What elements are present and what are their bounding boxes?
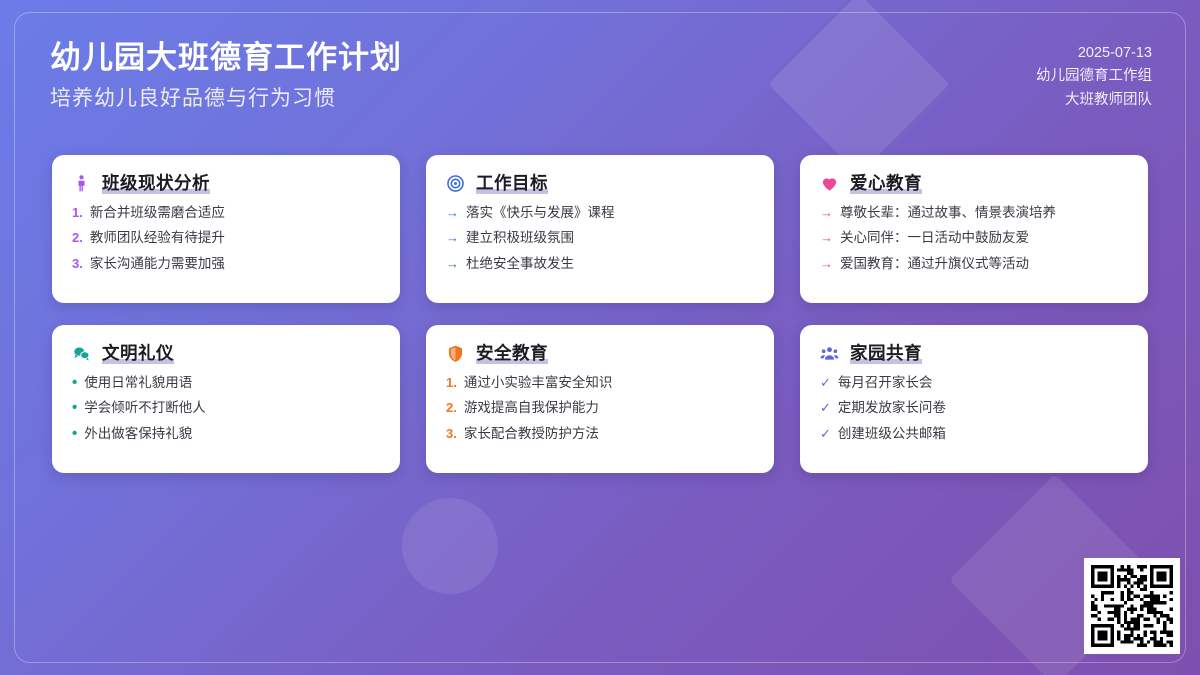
target-icon <box>446 174 465 193</box>
list-item-text: 教师团队经验有待提升 <box>90 230 225 246</box>
card-love-education[interactable]: 爱心教育→尊敬长辈：通过故事、情景表演培养→关心同伴：一日活动中鼓励友爱→爱国教… <box>800 155 1148 303</box>
card-title: 爱心教育 <box>850 173 922 194</box>
list-item: →杜绝安全事故发生 <box>446 256 754 272</box>
list-item: →爱国教育：通过升旗仪式等活动 <box>820 256 1128 272</box>
card-work-goals[interactable]: 工作目标→落实《快乐与发展》课程→建立积极班级氛围→杜绝安全事故发生 <box>426 155 774 303</box>
list-item-text: 游戏提高自我保护能力 <box>464 400 599 416</box>
people-group-icon <box>820 344 839 363</box>
list-marker-arrow: → <box>446 230 459 246</box>
card-header: 家园共育 <box>820 343 1128 364</box>
list-item: →关心同伴：一日活动中鼓励友爱 <box>820 230 1128 246</box>
card-header: 文明礼仪 <box>72 343 380 364</box>
list-item: →建立积极班级氛围 <box>446 230 754 246</box>
list-item: 1.新合并班级需磨合适应 <box>72 205 380 221</box>
page-subtitle: 培养幼儿良好品德与行为习惯 <box>50 86 402 112</box>
list-item-text: 每月召开家长会 <box>838 375 933 391</box>
list-item: 2.游戏提高自我保护能力 <box>446 400 754 416</box>
list-item-text: 爱国教育：通过升旗仪式等活动 <box>840 256 1029 272</box>
card-item-list: •使用日常礼貌用语•学会倾听不打断他人•外出做客保持礼貌 <box>72 375 380 442</box>
qr-code-image <box>1091 565 1173 647</box>
page-title: 幼儿园大班德育工作计划 <box>50 38 402 78</box>
card-home-school-coeducation[interactable]: 家园共育✓每月召开家长会✓定期发放家长问卷✓创建班级公共邮箱 <box>800 325 1148 473</box>
list-marker-arrow: → <box>446 205 459 221</box>
meta-team: 大班教师团队 <box>1036 89 1152 112</box>
card-item-list: 1.新合并班级需磨合适应2.教师团队经验有待提升3.家长沟通能力需要加强 <box>72 205 380 272</box>
list-marker-dot: • <box>72 426 77 441</box>
card-header: 工作目标 <box>446 173 754 194</box>
list-item: →落实《快乐与发展》课程 <box>446 205 754 221</box>
card-grid: 班级现状分析1.新合并班级需磨合适应2.教师团队经验有待提升3.家长沟通能力需要… <box>52 155 1152 473</box>
list-marker-check: ✓ <box>820 400 831 416</box>
list-item-text: 使用日常礼貌用语 <box>84 375 192 391</box>
list-marker-number: 3. <box>446 426 457 442</box>
list-marker-arrow: → <box>820 230 833 246</box>
meta-organization: 幼儿园德育工作组 <box>1036 65 1152 88</box>
card-item-list: 1.通过小实验丰富安全知识2.游戏提高自我保护能力3.家长配合教授防护方法 <box>446 375 754 442</box>
card-header: 班级现状分析 <box>72 173 380 194</box>
list-marker-number: 2. <box>72 230 83 246</box>
list-item: 3.家长沟通能力需要加强 <box>72 256 380 272</box>
card-class-status-analysis[interactable]: 班级现状分析1.新合并班级需磨合适应2.教师团队经验有待提升3.家长沟通能力需要… <box>52 155 400 303</box>
list-item-text: 关心同伴：一日活动中鼓励友爱 <box>840 230 1029 246</box>
list-marker-dot: • <box>72 375 77 390</box>
list-item: 1.通过小实验丰富安全知识 <box>446 375 754 391</box>
card-item-list: ✓每月召开家长会✓定期发放家长问卷✓创建班级公共邮箱 <box>820 375 1128 442</box>
list-marker-arrow: → <box>820 256 833 272</box>
list-item: •学会倾听不打断他人 <box>72 400 380 416</box>
list-item-text: 定期发放家长问卷 <box>838 400 946 416</box>
list-item: →尊敬长辈：通过故事、情景表演培养 <box>820 205 1128 221</box>
slide-header: 幼儿园大班德育工作计划 培养幼儿良好品德与行为习惯 2025-07-13 幼儿园… <box>0 0 1200 150</box>
shield-icon <box>446 344 465 363</box>
list-item-text: 学会倾听不打断他人 <box>84 400 206 416</box>
list-marker-number: 1. <box>72 205 83 221</box>
list-item-text: 创建班级公共邮箱 <box>838 426 946 442</box>
qr-code[interactable] <box>1084 558 1180 654</box>
card-header: 爱心教育 <box>820 173 1128 194</box>
list-item-text: 落实《快乐与发展》课程 <box>466 205 615 221</box>
list-marker-dot: • <box>72 400 77 415</box>
list-marker-arrow: → <box>446 256 459 272</box>
card-title: 文明礼仪 <box>102 343 174 364</box>
list-marker-check: ✓ <box>820 426 831 442</box>
card-title: 安全教育 <box>476 343 548 364</box>
card-civility-etiquette[interactable]: 文明礼仪•使用日常礼貌用语•学会倾听不打断他人•外出做客保持礼貌 <box>52 325 400 473</box>
list-item: •使用日常礼貌用语 <box>72 375 380 391</box>
list-item: •外出做客保持礼貌 <box>72 426 380 442</box>
list-item-text: 家长配合教授防护方法 <box>464 426 599 442</box>
card-title: 班级现状分析 <box>102 173 210 194</box>
list-marker-number: 3. <box>72 256 83 272</box>
list-item: ✓每月召开家长会 <box>820 375 1128 391</box>
list-item-text: 家长沟通能力需要加强 <box>90 256 225 272</box>
list-marker-arrow: → <box>820 205 833 221</box>
heart-icon <box>820 174 839 193</box>
list-item-text: 尊敬长辈：通过故事、情景表演培养 <box>840 205 1056 221</box>
list-item: ✓定期发放家长问卷 <box>820 400 1128 416</box>
card-header: 安全教育 <box>446 343 754 364</box>
list-item-text: 建立积极班级氛围 <box>466 230 574 246</box>
card-safety-education[interactable]: 安全教育1.通过小实验丰富安全知识2.游戏提高自我保护能力3.家长配合教授防护方… <box>426 325 774 473</box>
list-item: 3.家长配合教授防护方法 <box>446 426 754 442</box>
decorative-circle <box>402 498 498 594</box>
list-item-text: 杜绝安全事故发生 <box>466 256 574 272</box>
chat-bubbles-icon <box>72 344 91 363</box>
list-item-text: 通过小实验丰富安全知识 <box>464 375 613 391</box>
child-icon <box>72 174 91 193</box>
card-title: 家园共育 <box>850 343 922 364</box>
header-meta: 2025-07-13 幼儿园德育工作组 大班教师团队 <box>1036 42 1152 112</box>
list-marker-number: 1. <box>446 375 457 391</box>
card-title: 工作目标 <box>476 173 548 194</box>
list-marker-check: ✓ <box>820 375 831 391</box>
slide-canvas: 幼儿园大班德育工作计划 培养幼儿良好品德与行为习惯 2025-07-13 幼儿园… <box>0 0 1200 675</box>
list-item: ✓创建班级公共邮箱 <box>820 426 1128 442</box>
list-item: 2.教师团队经验有待提升 <box>72 230 380 246</box>
list-marker-number: 2. <box>446 400 457 416</box>
meta-date: 2025-07-13 <box>1036 42 1152 65</box>
card-item-list: →落实《快乐与发展》课程→建立积极班级氛围→杜绝安全事故发生 <box>446 205 754 272</box>
header-text-block: 幼儿园大班德育工作计划 培养幼儿良好品德与行为习惯 <box>50 38 402 112</box>
list-item-text: 新合并班级需磨合适应 <box>90 205 225 221</box>
card-item-list: →尊敬长辈：通过故事、情景表演培养→关心同伴：一日活动中鼓励友爱→爱国教育：通过… <box>820 205 1128 272</box>
list-item-text: 外出做客保持礼貌 <box>84 426 192 442</box>
